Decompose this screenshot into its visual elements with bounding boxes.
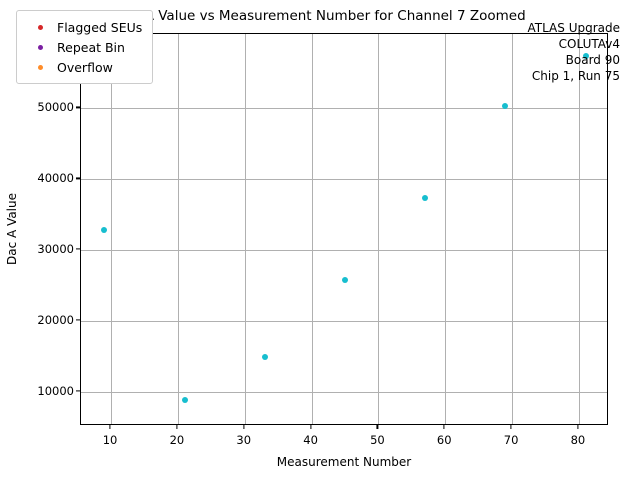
gridline-horizontal xyxy=(81,179,607,180)
legend-item[interactable]: Overflow xyxy=(23,57,142,77)
annotation-line: ATLAS Upgrade xyxy=(527,20,620,36)
x-tick-label: 60 xyxy=(437,433,452,447)
annotation-line: Board 90 xyxy=(527,52,620,68)
gridline-vertical xyxy=(445,34,446,424)
x-tick-mark xyxy=(243,425,244,429)
legend-marker-icon xyxy=(23,25,57,30)
legend-item[interactable]: Flagged SEUs xyxy=(23,17,142,37)
legend-swatch xyxy=(38,45,43,50)
data-point xyxy=(182,397,188,403)
gridline-horizontal xyxy=(81,321,607,322)
y-tick-label: 50000 xyxy=(22,100,74,114)
y-tick-mark xyxy=(76,178,80,179)
annotation-block: ATLAS UpgradeCOLUTAv4Board 90Chip 1, Run… xyxy=(527,20,620,84)
x-tick-label: 40 xyxy=(303,433,318,447)
x-tick-label: 30 xyxy=(236,433,251,447)
y-tick-label: 10000 xyxy=(22,384,74,398)
gridline-horizontal xyxy=(81,108,607,109)
gridline-vertical xyxy=(378,34,379,424)
y-axis-label: Dac A Value xyxy=(4,33,20,425)
x-tick-mark xyxy=(444,425,445,429)
gridline-vertical xyxy=(579,34,580,424)
x-tick-label: 50 xyxy=(370,433,385,447)
gridline-vertical xyxy=(178,34,179,424)
gridline-vertical xyxy=(245,34,246,424)
plot-area xyxy=(80,33,608,425)
legend-label: Overflow xyxy=(57,60,113,75)
gridline-horizontal xyxy=(81,250,607,251)
gridline-vertical xyxy=(512,34,513,424)
legend-label: Flagged SEUs xyxy=(57,20,142,35)
annotation-line: Chip 1, Run 75 xyxy=(527,68,620,84)
y-tick-label: 40000 xyxy=(22,171,74,185)
x-tick-mark xyxy=(109,425,110,429)
data-point xyxy=(422,195,428,201)
gridline-vertical xyxy=(312,34,313,424)
x-tick-label: 10 xyxy=(103,433,118,447)
legend-item[interactable]: Repeat Bin xyxy=(23,37,142,57)
y-axis-label-text: Dac A Value xyxy=(5,193,19,265)
gridline-vertical xyxy=(111,34,112,424)
data-point xyxy=(502,103,508,109)
y-tick-mark xyxy=(76,107,80,108)
x-axis-label: Measurement Number xyxy=(80,455,608,469)
annotation-line: COLUTAv4 xyxy=(527,36,620,52)
legend: Flagged SEUsRepeat BinOverflow xyxy=(16,10,153,84)
x-tick-mark xyxy=(510,425,511,429)
y-tick-mark xyxy=(76,249,80,250)
chart-figure: Dac A Value vs Measurement Number for Ch… xyxy=(0,0,640,480)
x-tick-label: 70 xyxy=(504,433,519,447)
x-tick-mark xyxy=(176,425,177,429)
x-tick-mark xyxy=(310,425,311,429)
y-tick-mark xyxy=(76,319,80,320)
y-tick-label: 30000 xyxy=(22,242,74,256)
x-tick-label: 20 xyxy=(170,433,185,447)
legend-swatch xyxy=(38,65,43,70)
legend-marker-icon xyxy=(23,65,57,70)
data-point xyxy=(342,277,348,283)
data-point xyxy=(262,354,268,360)
legend-label: Repeat Bin xyxy=(57,40,125,55)
data-point xyxy=(101,227,107,233)
x-tick-label: 80 xyxy=(571,433,586,447)
legend-marker-icon xyxy=(23,45,57,50)
y-tick-mark xyxy=(76,390,80,391)
legend-swatch xyxy=(38,25,43,30)
gridline-horizontal xyxy=(81,392,607,393)
y-tick-label: 20000 xyxy=(22,313,74,327)
x-tick-mark xyxy=(377,425,378,429)
x-tick-mark xyxy=(577,425,578,429)
